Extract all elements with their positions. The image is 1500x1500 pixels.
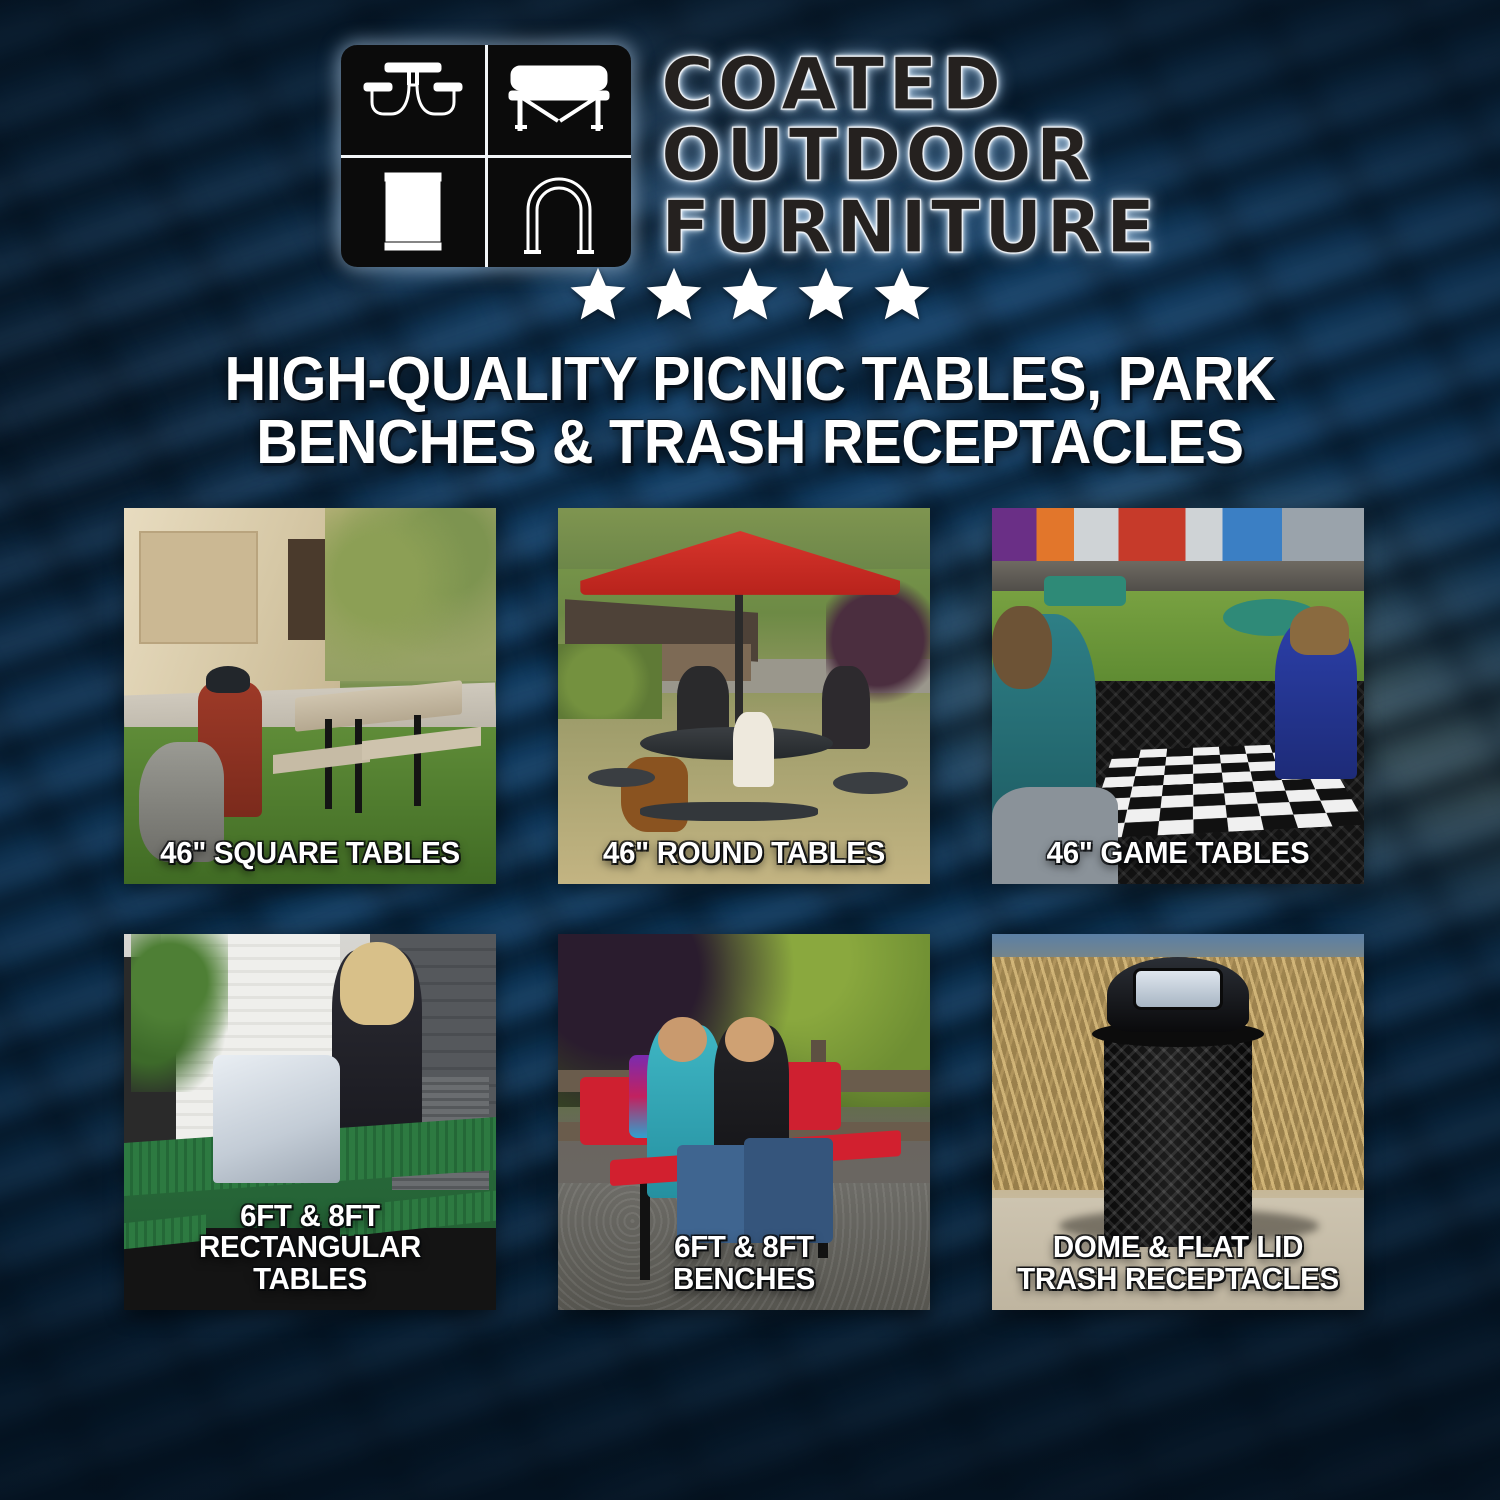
caption-line-1: 46" GAME TABLES: [1009, 837, 1347, 869]
caption-line-2: RECTANGULAR TABLES: [141, 1231, 479, 1294]
star-icon: [795, 264, 857, 324]
product-photo: [558, 508, 930, 884]
headline-line-2: BENCHES & TRASH RECEPTACLES: [127, 411, 1373, 474]
brand-wordmark: COATED OUTDOOR FURNITURE: [661, 50, 1159, 261]
wordmark-line-furniture: FURNITURE: [661, 193, 1159, 262]
product-caption: 46" SQUARE TABLES: [133, 837, 486, 869]
product-caption: DOME & FLAT LID TRASH RECEPTACLES: [1001, 1231, 1354, 1294]
headline-line-1: HIGH-QUALITY PICNIC TABLES, PARK: [127, 348, 1373, 411]
product-caption: 6FT & 8FT RECTANGULAR TABLES: [133, 1200, 486, 1295]
product-grid: 46" SQUARE TABLES 46" ROUND TABLES: [124, 508, 1376, 1310]
star-icon: [719, 264, 781, 324]
brand-lockup: COATED OUTDOOR FURNITURE: [0, 0, 1500, 250]
caption-line-1: 46" ROUND TABLES: [575, 837, 913, 869]
brand-logo-mark: [341, 45, 631, 267]
caption-line-1: 46" SQUARE TABLES: [141, 837, 479, 869]
product-caption: 6FT & 8FT BENCHES: [567, 1231, 920, 1294]
product-tile-rectangular-tables[interactable]: 6FT & 8FT RECTANGULAR TABLES: [124, 934, 496, 1310]
bench-table-icon: [488, 45, 632, 155]
promo-banner: COATED OUTDOOR FURNITURE HIGH-QUALITY PI…: [0, 0, 1500, 1500]
wordmark-line-outdoor: OUTDOOR: [661, 121, 1159, 190]
star-rating: [0, 264, 1500, 326]
product-caption: 46" ROUND TABLES: [567, 837, 920, 869]
product-tile-benches[interactable]: 6FT & 8FT BENCHES: [558, 934, 930, 1310]
product-tile-trash-receptacles[interactable]: DOME & FLAT LID TRASH RECEPTACLES: [992, 934, 1364, 1310]
product-tile-round-tables[interactable]: 46" ROUND TABLES: [558, 508, 930, 884]
wordmark-line-coated: COATED: [661, 50, 1159, 119]
caption-line-2: TRASH RECEPTACLES: [1009, 1263, 1347, 1295]
product-caption: 46" GAME TABLES: [1001, 837, 1354, 869]
product-tile-game-tables[interactable]: 46" GAME TABLES: [992, 508, 1364, 884]
picnic-table-icon: [341, 45, 485, 155]
headline: HIGH-QUALITY PICNIC TABLES, PARK BENCHES…: [53, 348, 1448, 474]
caption-line-2: BENCHES: [575, 1263, 913, 1295]
star-icon: [871, 264, 933, 324]
product-tile-square-tables[interactable]: 46" SQUARE TABLES: [124, 508, 496, 884]
star-icon: [567, 264, 629, 324]
bike-rack-arch-icon: [488, 158, 632, 268]
product-photo: [992, 508, 1364, 884]
caption-line-1: DOME & FLAT LID: [1009, 1231, 1347, 1263]
caption-line-1: 6FT & 8FT: [141, 1200, 479, 1232]
caption-line-1: 6FT & 8FT: [575, 1231, 913, 1263]
star-icon: [643, 264, 705, 324]
product-photo: [124, 508, 496, 884]
trash-receptacle-icon: [341, 158, 485, 268]
